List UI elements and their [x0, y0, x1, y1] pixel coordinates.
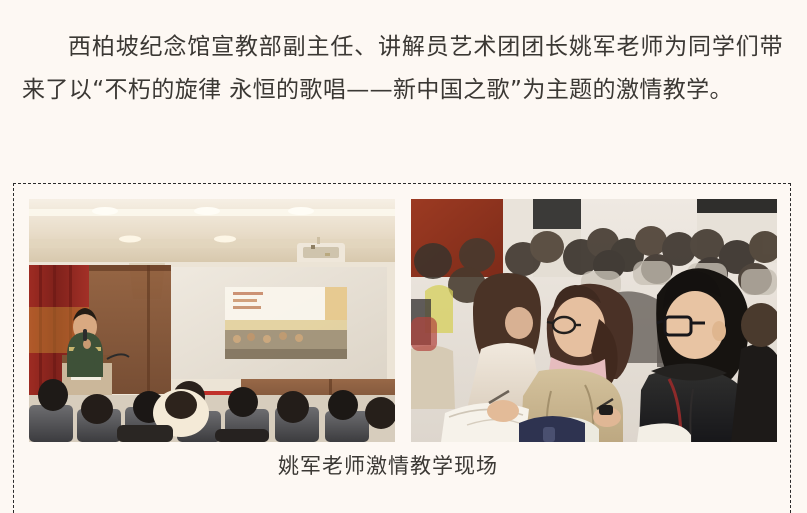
students-audience-image — [411, 199, 777, 442]
lecture-hall-speaker-image — [29, 199, 395, 442]
article-paragraph: 西柏坡纪念馆宣教部副主任、讲解员艺术团团长姚军老师为同学们带来了以“不朽的旋律 … — [22, 26, 783, 112]
figure-image-row — [29, 199, 777, 442]
lecture-hall-speaker-photo — [29, 199, 395, 442]
article-page: 西柏坡纪念馆宣教部副主任、讲解员艺术团团长姚军老师为同学们带来了以“不朽的旋律 … — [0, 0, 807, 486]
article-body: 西柏坡纪念馆宣教部副主任、讲解员艺术团团长姚军老师为同学们带来了以“不朽的旋律 … — [0, 0, 807, 112]
students-audience-photo — [411, 199, 777, 442]
figure-dashed-frame: 姚军老师激情教学现场 — [13, 183, 791, 513]
figure-caption: 姚军老师激情教学现场 — [14, 452, 762, 480]
